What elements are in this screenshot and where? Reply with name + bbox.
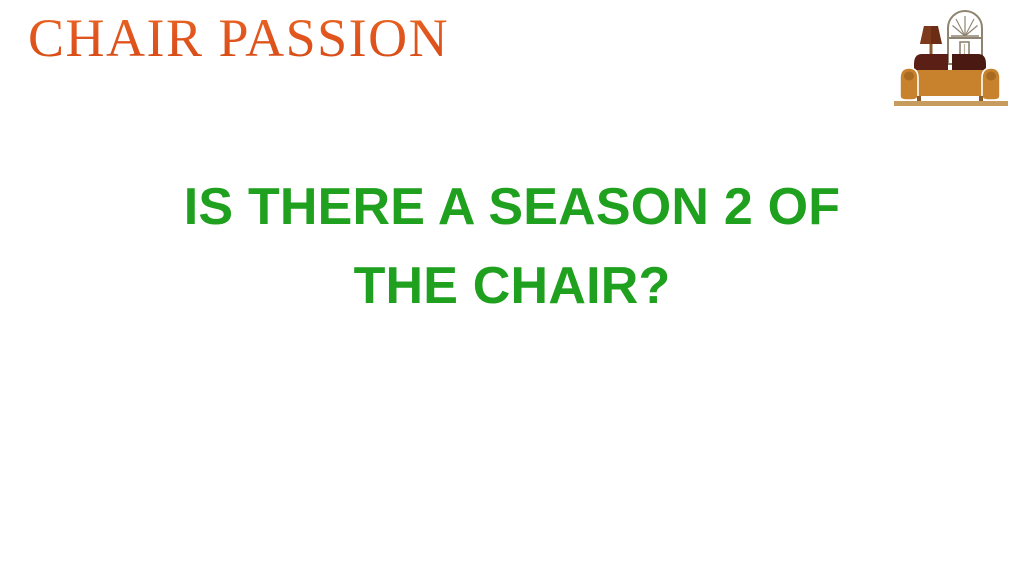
brand-logo-mark[interactable] [890,4,1012,108]
headline-line-1: IS THERE A SEASON 2 OF [0,168,1024,247]
headline-line-2: THE CHAIR? [0,247,1024,326]
headline-section: IS THERE A SEASON 2 OF THE CHAIR? [0,168,1024,326]
page-root: CHAIR PASSION [0,0,1024,576]
sofa-lamp-window-logo-icon [890,4,1012,108]
page-title: IS THERE A SEASON 2 OF THE CHAIR? [0,168,1024,326]
content-canvas [0,330,1024,576]
brand-wordmark[interactable]: CHAIR PASSION [28,11,449,65]
site-header: CHAIR PASSION [0,0,1024,118]
